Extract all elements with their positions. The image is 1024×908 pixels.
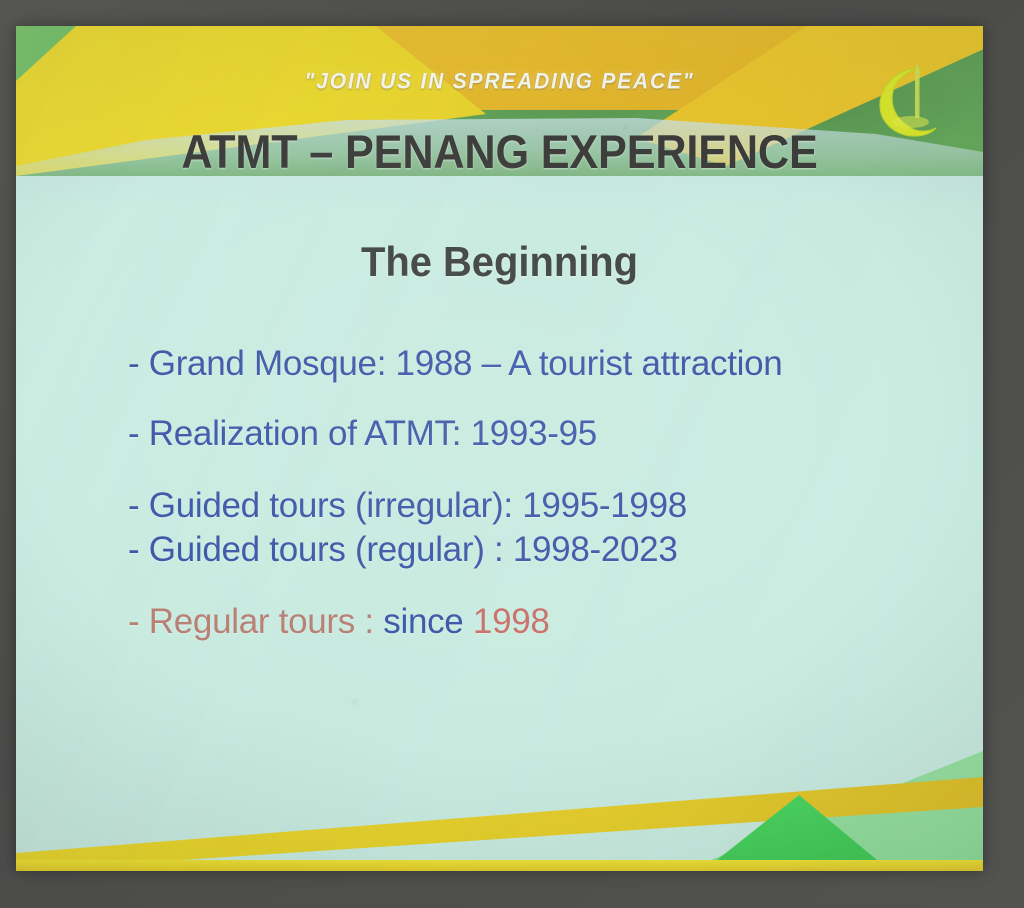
page-title: ATMT – PENANG EXPERIENCE — [55, 124, 945, 179]
bullet-text-segment: – A tourist attraction — [482, 344, 783, 383]
bullet-realization: - Realization of ATMT: 1993-95 — [128, 414, 928, 454]
bullet-regular-tours: - Regular tours : since 1998 — [128, 602, 928, 642]
bullet-grand-mosque: - Grand Mosque: 1988 – A tourist attract… — [128, 344, 928, 384]
bullet-text-segment: - Guided tours (regular) : 1998-2023 — [128, 530, 678, 569]
bullet-text-segment: - Realization of ATMT: 1993-95 — [128, 414, 597, 453]
bullet-text-segment: 1998 — [473, 602, 550, 641]
bullet-guided-irregular: - Guided tours (irregular): 1995-1998 — [128, 486, 928, 526]
bullet-text-segment: since — [383, 602, 473, 641]
bullet-text-segment: - Guided tours (irregular): 1995-1998 — [128, 486, 687, 525]
projection-screen-frame: "JOIN US IN SPREADING PEACE" ATMT – PENA… — [0, 0, 1024, 908]
bullet-list: - Grand Mosque: 1988 – A tourist attract… — [128, 344, 928, 642]
bullet-guided-regular: - Guided tours (regular) : 1998-2023 — [128, 530, 928, 570]
bullet-text-segment: - Grand Mosque: 1988 — [128, 344, 482, 383]
slide-content: ATMT – PENANG EXPERIENCE The Beginning -… — [16, 26, 983, 871]
slide-subtitle: The Beginning — [40, 238, 959, 286]
bullet-text-segment: - Regular tours : — [128, 602, 383, 641]
presentation-slide: "JOIN US IN SPREADING PEACE" ATMT – PENA… — [16, 26, 983, 871]
